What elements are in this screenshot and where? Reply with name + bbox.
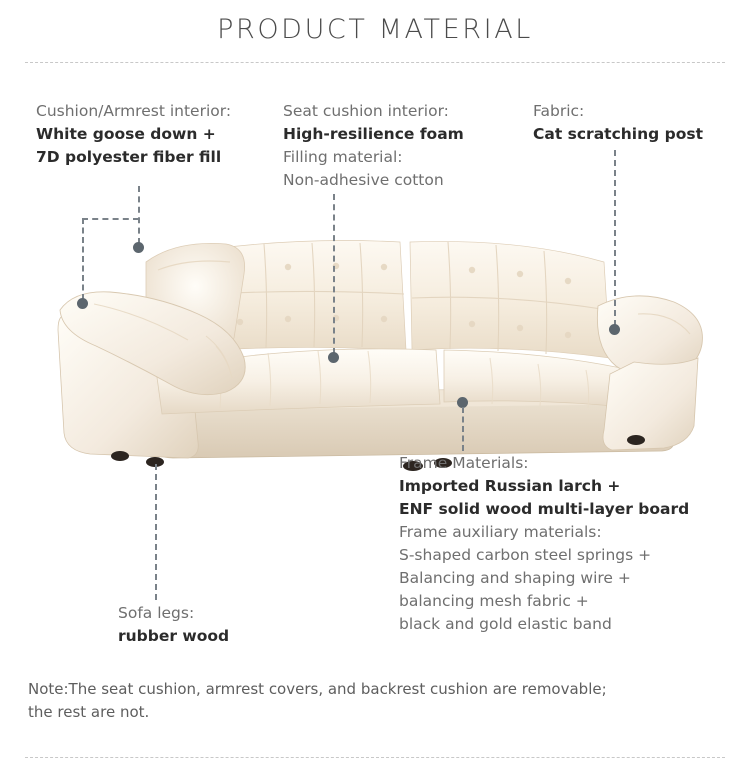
callout-seat-cushion-interior: Seat cushion interior: High-resilience f… [283, 100, 464, 192]
callout-label: Fabric: [533, 100, 703, 123]
note-line: the rest are not. [28, 701, 728, 724]
leader-line-frame [462, 407, 464, 451]
callout-dot-fabric [609, 324, 620, 335]
note-line: Note:The seat cushion, armrest covers, a… [28, 678, 728, 701]
sofa-product-image [38, 218, 718, 473]
callout-value: S-shaped carbon steel springs + [399, 544, 689, 567]
leader-line-legs [155, 464, 157, 600]
callout-dot-backrest-cushion [133, 242, 144, 253]
note-text: Note:The seat cushion, armrest covers, a… [28, 678, 728, 724]
leader-line-cushion-vertical [138, 186, 140, 244]
callout-value: black and gold elastic band [399, 613, 689, 636]
leader-line-armrest-vertical [82, 218, 84, 300]
callout-label: Sofa legs: [118, 602, 229, 625]
divider-top [25, 62, 725, 63]
callout-value: rubber wood [118, 625, 229, 648]
callout-value: Balancing and shaping wire + [399, 567, 689, 590]
callout-label: Frame Materials: [399, 452, 689, 475]
callout-value: balancing mesh fabric + [399, 590, 689, 613]
callout-value: Imported Russian larch + [399, 475, 689, 498]
callout-label: Seat cushion interior: [283, 100, 464, 123]
callout-sofa-legs: Sofa legs: rubber wood [118, 602, 229, 648]
callout-dot-armrest [77, 298, 88, 309]
leader-line-cushion-branch [82, 218, 139, 220]
callout-label: Frame auxiliary materials: [399, 521, 689, 544]
callout-value: White goose down + [36, 123, 231, 146]
callout-label: Filling material: [283, 146, 464, 169]
callout-value: Cat scratching post [533, 123, 703, 146]
leader-line-seat [333, 194, 335, 354]
callout-cushion-armrest-interior: Cushion/Armrest interior: White goose do… [36, 100, 231, 169]
callout-value: Non-adhesive cotton [283, 169, 464, 192]
callout-value: High-resilience foam [283, 123, 464, 146]
divider-bottom [25, 757, 725, 758]
callout-value: 7D polyester fiber fill [36, 146, 231, 169]
callout-value: ENF solid wood multi-layer board [399, 498, 689, 521]
callout-fabric: Fabric: Cat scratching post [533, 100, 703, 146]
callout-dot-seat-cushion [328, 352, 339, 363]
page-title: PRODUCT MATERIAL [0, 14, 750, 45]
leader-line-fabric [614, 150, 616, 326]
callout-frame-materials: Frame Materials: Imported Russian larch … [399, 452, 689, 636]
callout-label: Cushion/Armrest interior: [36, 100, 231, 123]
